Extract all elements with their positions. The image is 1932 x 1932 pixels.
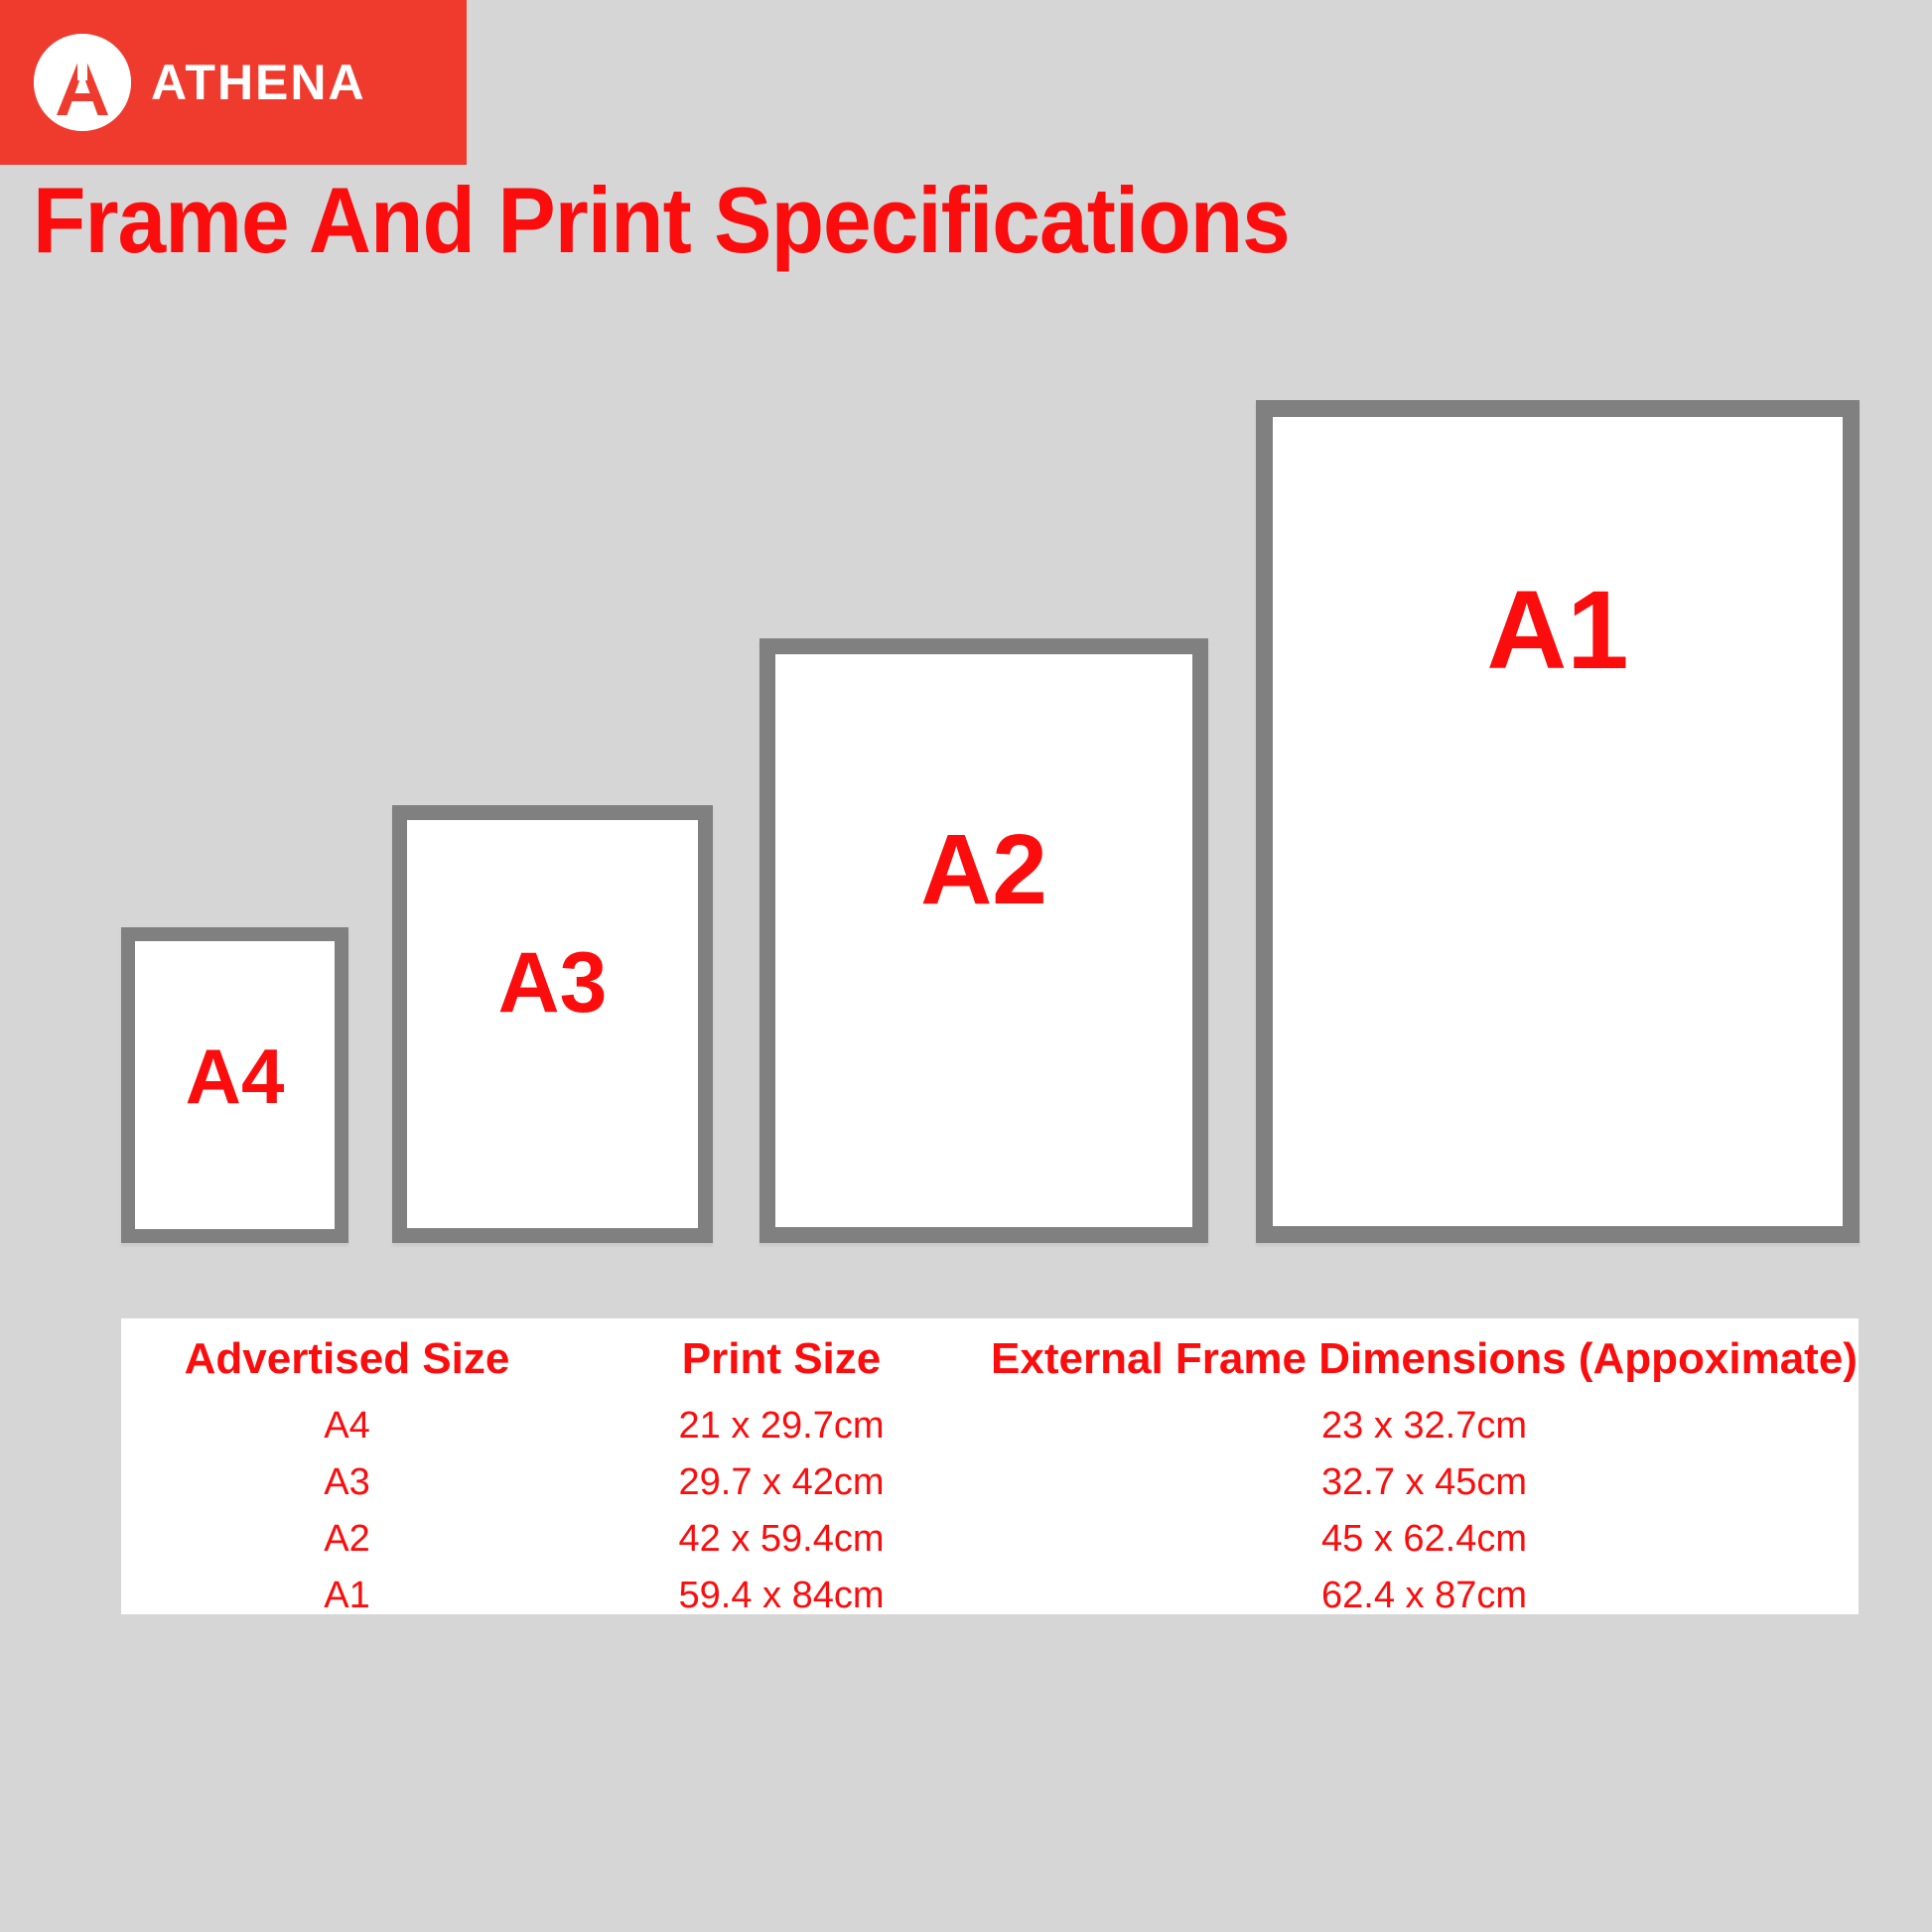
cell-external-frame: 45 x 62.4cm [990, 1511, 1859, 1568]
table-row: A2 42 x 59.4cm 45 x 62.4cm [121, 1511, 1859, 1568]
cell-advertised-size: A3 [121, 1454, 573, 1511]
cell-advertised-size: A2 [121, 1511, 573, 1568]
frame-preview-a1: A1 [1256, 400, 1860, 1243]
cell-external-frame: 62.4 x 87cm [990, 1568, 1859, 1624]
table-header-row: Advertised Size Print Size External Fram… [121, 1330, 1859, 1398]
specifications-table: Advertised Size Print Size External Fram… [121, 1330, 1859, 1624]
frame-preview-a3: A3 [392, 805, 713, 1243]
frame-label-a2: A2 [775, 820, 1192, 919]
table-row: A3 29.7 x 42cm 32.7 x 45cm [121, 1454, 1859, 1511]
cell-print-size: 21 x 29.7cm [573, 1398, 990, 1454]
cell-print-size: 42 x 59.4cm [573, 1511, 990, 1568]
cell-external-frame: 23 x 32.7cm [990, 1398, 1859, 1454]
frame-preview-a4: A4 [121, 927, 348, 1243]
frame-label-a1: A1 [1273, 575, 1843, 686]
cell-advertised-size: A4 [121, 1398, 573, 1454]
cell-external-frame: 32.7 x 45cm [990, 1454, 1859, 1511]
frame-label-a3: A3 [407, 940, 698, 1026]
column-header-advertised-size: Advertised Size [121, 1330, 573, 1398]
frame-label-a4: A4 [135, 1037, 335, 1115]
poster-canvas: ATHENA Frame And Print Specifications A4… [0, 0, 1932, 1932]
table-row: A1 59.4 x 84cm 62.4 x 87cm [121, 1568, 1859, 1624]
frame-size-comparison: A4 A3 A2 A1 [0, 0, 1932, 1932]
column-header-external-frame: External Frame Dimensions (Appoximate) [990, 1330, 1859, 1398]
cell-advertised-size: A1 [121, 1568, 573, 1624]
column-header-print-size: Print Size [573, 1330, 990, 1398]
specifications-panel: Advertised Size Print Size External Fram… [121, 1318, 1859, 1614]
cell-print-size: 59.4 x 84cm [573, 1568, 990, 1624]
cell-print-size: 29.7 x 42cm [573, 1454, 990, 1511]
table-row: A4 21 x 29.7cm 23 x 32.7cm [121, 1398, 1859, 1454]
frame-preview-a2: A2 [759, 638, 1208, 1243]
